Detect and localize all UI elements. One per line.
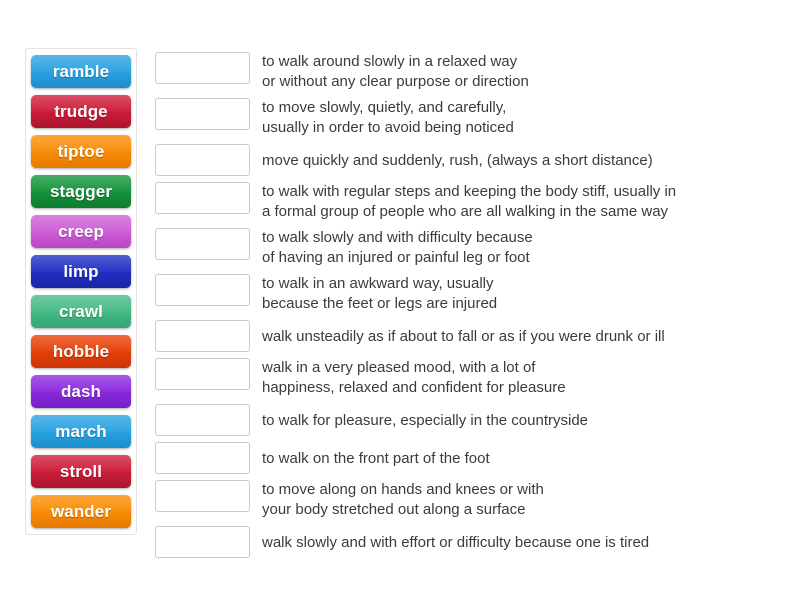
definition-row: to walk in an awkward way, usually becau… [155,274,785,314]
word-tile-stroll[interactable]: stroll [31,455,131,488]
answer-dropzone[interactable] [155,320,250,352]
definition-row: move quickly and suddenly, rush, (always… [155,144,785,176]
definition-text: to walk in an awkward way, usually becau… [262,274,785,314]
definition-row: walk in a very pleased mood, with a lot … [155,358,785,398]
word-tile-label: ramble [53,62,109,82]
answer-dropzone[interactable] [155,228,250,260]
answer-dropzone[interactable] [155,526,250,558]
match-up-activity: rambletrudgetiptoestaggercreeplimpcrawlh… [0,0,800,600]
word-tile-label: limp [63,262,98,282]
definition-row: walk slowly and with effort or difficult… [155,526,785,558]
definition-text: walk unsteadily as if about to fall or a… [262,320,785,347]
answer-dropzone[interactable] [155,358,250,390]
word-tile-trudge[interactable]: trudge [31,95,131,128]
word-tile-label: stroll [60,462,102,482]
word-tile-limp[interactable]: limp [31,255,131,288]
definition-text: to walk for pleasure, especially in the … [262,404,785,431]
definition-text: to move slowly, quietly, and carefully, … [262,98,785,138]
definition-rows: to walk around slowly in a relaxed way o… [155,52,785,564]
definition-row: to move slowly, quietly, and carefully, … [155,98,785,138]
definition-row: walk unsteadily as if about to fall or a… [155,320,785,352]
definition-text: walk slowly and with effort or difficult… [262,526,785,553]
definition-text: to move along on hands and knees or with… [262,480,785,520]
word-tile-wander[interactable]: wander [31,495,131,528]
word-tile-label: march [55,422,107,442]
definition-text: to walk slowly and with difficulty becau… [262,228,785,268]
word-tile-label: dash [61,382,101,402]
word-tile-label: tiptoe [58,142,105,162]
word-tile-creep[interactable]: creep [31,215,131,248]
word-tile-stagger[interactable]: stagger [31,175,131,208]
definition-row: to walk on the front part of the foot [155,442,785,474]
word-tile-label: wander [51,502,111,522]
definition-row: to move along on hands and knees or with… [155,480,785,520]
definition-row: to walk slowly and with difficulty becau… [155,228,785,268]
word-tile-label: trudge [54,102,107,122]
word-tile-bank: rambletrudgetiptoestaggercreeplimpcrawlh… [25,48,137,535]
word-tile-label: creep [58,222,104,242]
word-tile-label: hobble [53,342,109,362]
word-tile-label: crawl [59,302,103,322]
answer-dropzone[interactable] [155,52,250,84]
definition-row: to walk with regular steps and keeping t… [155,182,785,222]
answer-dropzone[interactable] [155,480,250,512]
word-tile-march[interactable]: march [31,415,131,448]
definition-row: to walk around slowly in a relaxed way o… [155,52,785,92]
word-tile-dash[interactable]: dash [31,375,131,408]
answer-dropzone[interactable] [155,182,250,214]
definition-text: to walk with regular steps and keeping t… [262,182,785,222]
definition-text: to walk on the front part of the foot [262,442,785,469]
word-tile-crawl[interactable]: crawl [31,295,131,328]
answer-dropzone[interactable] [155,98,250,130]
word-tile-ramble[interactable]: ramble [31,55,131,88]
word-tile-hobble[interactable]: hobble [31,335,131,368]
word-tile-tiptoe[interactable]: tiptoe [31,135,131,168]
definition-text: move quickly and suddenly, rush, (always… [262,144,785,171]
answer-dropzone[interactable] [155,274,250,306]
answer-dropzone[interactable] [155,404,250,436]
definition-text: to walk around slowly in a relaxed way o… [262,52,785,92]
definition-row: to walk for pleasure, especially in the … [155,404,785,436]
answer-dropzone[interactable] [155,442,250,474]
answer-dropzone[interactable] [155,144,250,176]
definition-text: walk in a very pleased mood, with a lot … [262,358,785,398]
word-tile-label: stagger [50,182,112,202]
